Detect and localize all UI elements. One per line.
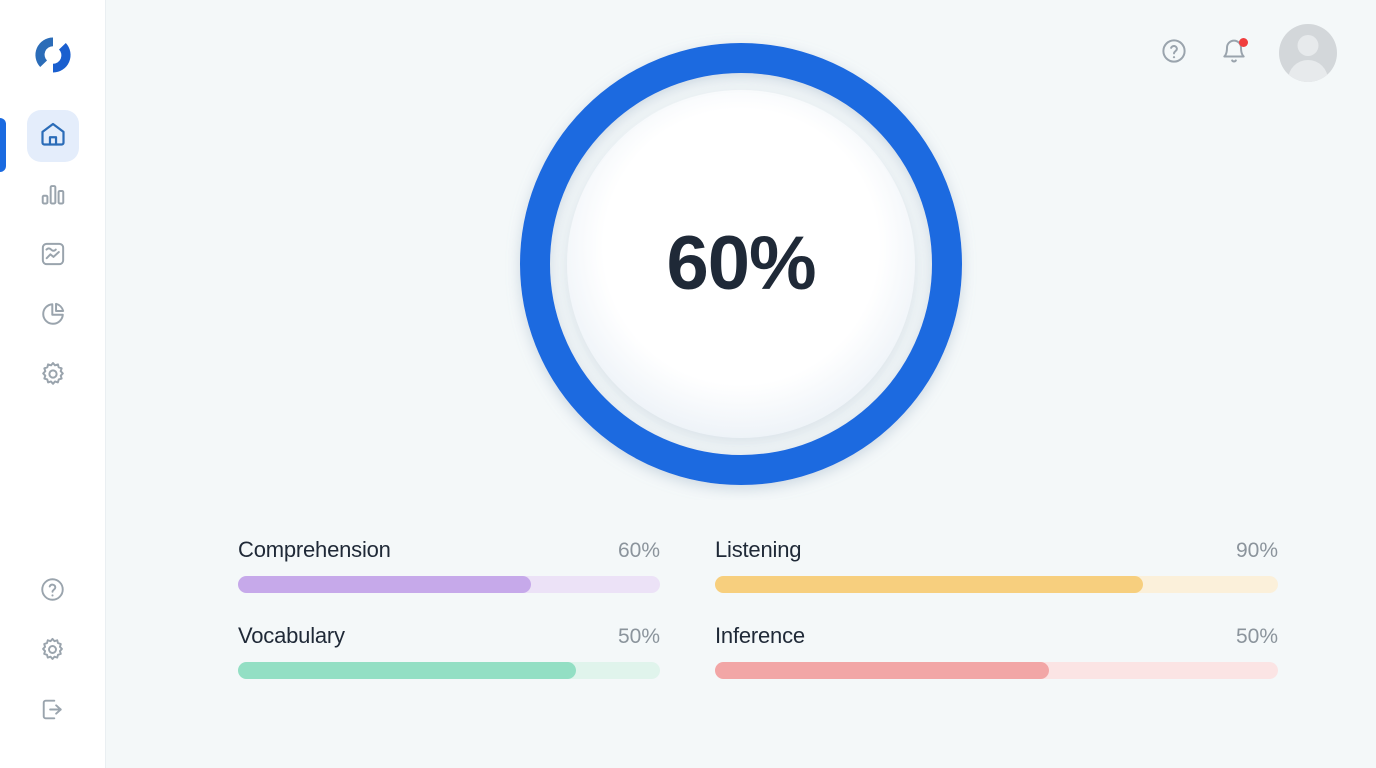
metric-header: Comprehension 60%	[238, 537, 660, 563]
sidebar-item-home[interactable]	[27, 110, 79, 162]
metric-value: 90%	[1236, 539, 1278, 563]
main-content: 60% Comprehension 60% Listening 90%	[106, 0, 1376, 768]
home-icon	[39, 120, 67, 153]
metric-label: Comprehension	[238, 537, 391, 563]
avatar-head	[1298, 35, 1319, 56]
app-logo[interactable]	[26, 28, 80, 82]
metric-progress-fill	[238, 576, 531, 593]
help-circle-icon	[1160, 37, 1188, 70]
gauge-value-label: 60%	[666, 226, 815, 302]
gear-icon	[39, 636, 66, 668]
help-button[interactable]	[1159, 38, 1189, 68]
metric-progress-track	[238, 576, 660, 593]
sidebar-item-preferences[interactable]	[27, 626, 79, 678]
metric-progress-fill	[715, 662, 1049, 679]
avatar-body	[1288, 60, 1328, 82]
sidebar-item-help[interactable]	[27, 566, 79, 618]
avatar[interactable]	[1279, 24, 1337, 82]
progress-gauge: 60%	[505, 28, 977, 500]
sidebar-nav-secondary	[27, 566, 79, 738]
metric-label: Listening	[715, 537, 801, 563]
sidebar-item-reports[interactable]	[27, 170, 79, 222]
metric-header: Vocabulary 50%	[238, 623, 660, 649]
metric-progress-track	[715, 662, 1278, 679]
metric-vocabulary: Vocabulary 50%	[238, 623, 660, 679]
notifications-button[interactable]	[1219, 38, 1249, 68]
sidebar-item-logout[interactable]	[27, 686, 79, 738]
metric-label: Inference	[715, 623, 805, 649]
metric-inference: Inference 50%	[715, 623, 1278, 679]
metric-progress-track	[715, 576, 1278, 593]
line-chart-icon	[39, 240, 67, 273]
progress-gauge-container: 60%	[106, 28, 1376, 500]
sidebar	[0, 0, 106, 768]
metric-value: 60%	[618, 539, 660, 563]
metric-label: Vocabulary	[238, 623, 345, 649]
metric-progress-fill	[238, 662, 576, 679]
gear-icon	[39, 360, 67, 393]
active-nav-indicator	[0, 118, 6, 172]
sidebar-nav-primary	[27, 110, 79, 402]
metric-value: 50%	[1236, 625, 1278, 649]
metrics-grid: Comprehension 60% Listening 90% Voca	[238, 537, 1278, 679]
metric-listening: Listening 90%	[715, 537, 1278, 593]
sidebar-item-settings[interactable]	[27, 350, 79, 402]
notification-badge	[1239, 38, 1248, 47]
metric-header: Inference 50%	[715, 623, 1278, 649]
metric-comprehension: Comprehension 60%	[238, 537, 660, 593]
bar-chart-icon	[39, 180, 67, 213]
metric-progress-fill	[715, 576, 1143, 593]
metric-value: 50%	[618, 625, 660, 649]
sidebar-item-insights[interactable]	[27, 290, 79, 342]
metric-header: Listening 90%	[715, 537, 1278, 563]
sidebar-item-analytics[interactable]	[27, 230, 79, 282]
pie-chart-icon	[39, 300, 67, 333]
header-actions	[1159, 24, 1337, 82]
logout-icon	[39, 696, 66, 728]
metric-progress-track	[238, 662, 660, 679]
help-circle-icon	[39, 576, 66, 608]
dashboard-page: 60% Comprehension 60% Listening 90%	[0, 0, 1376, 768]
